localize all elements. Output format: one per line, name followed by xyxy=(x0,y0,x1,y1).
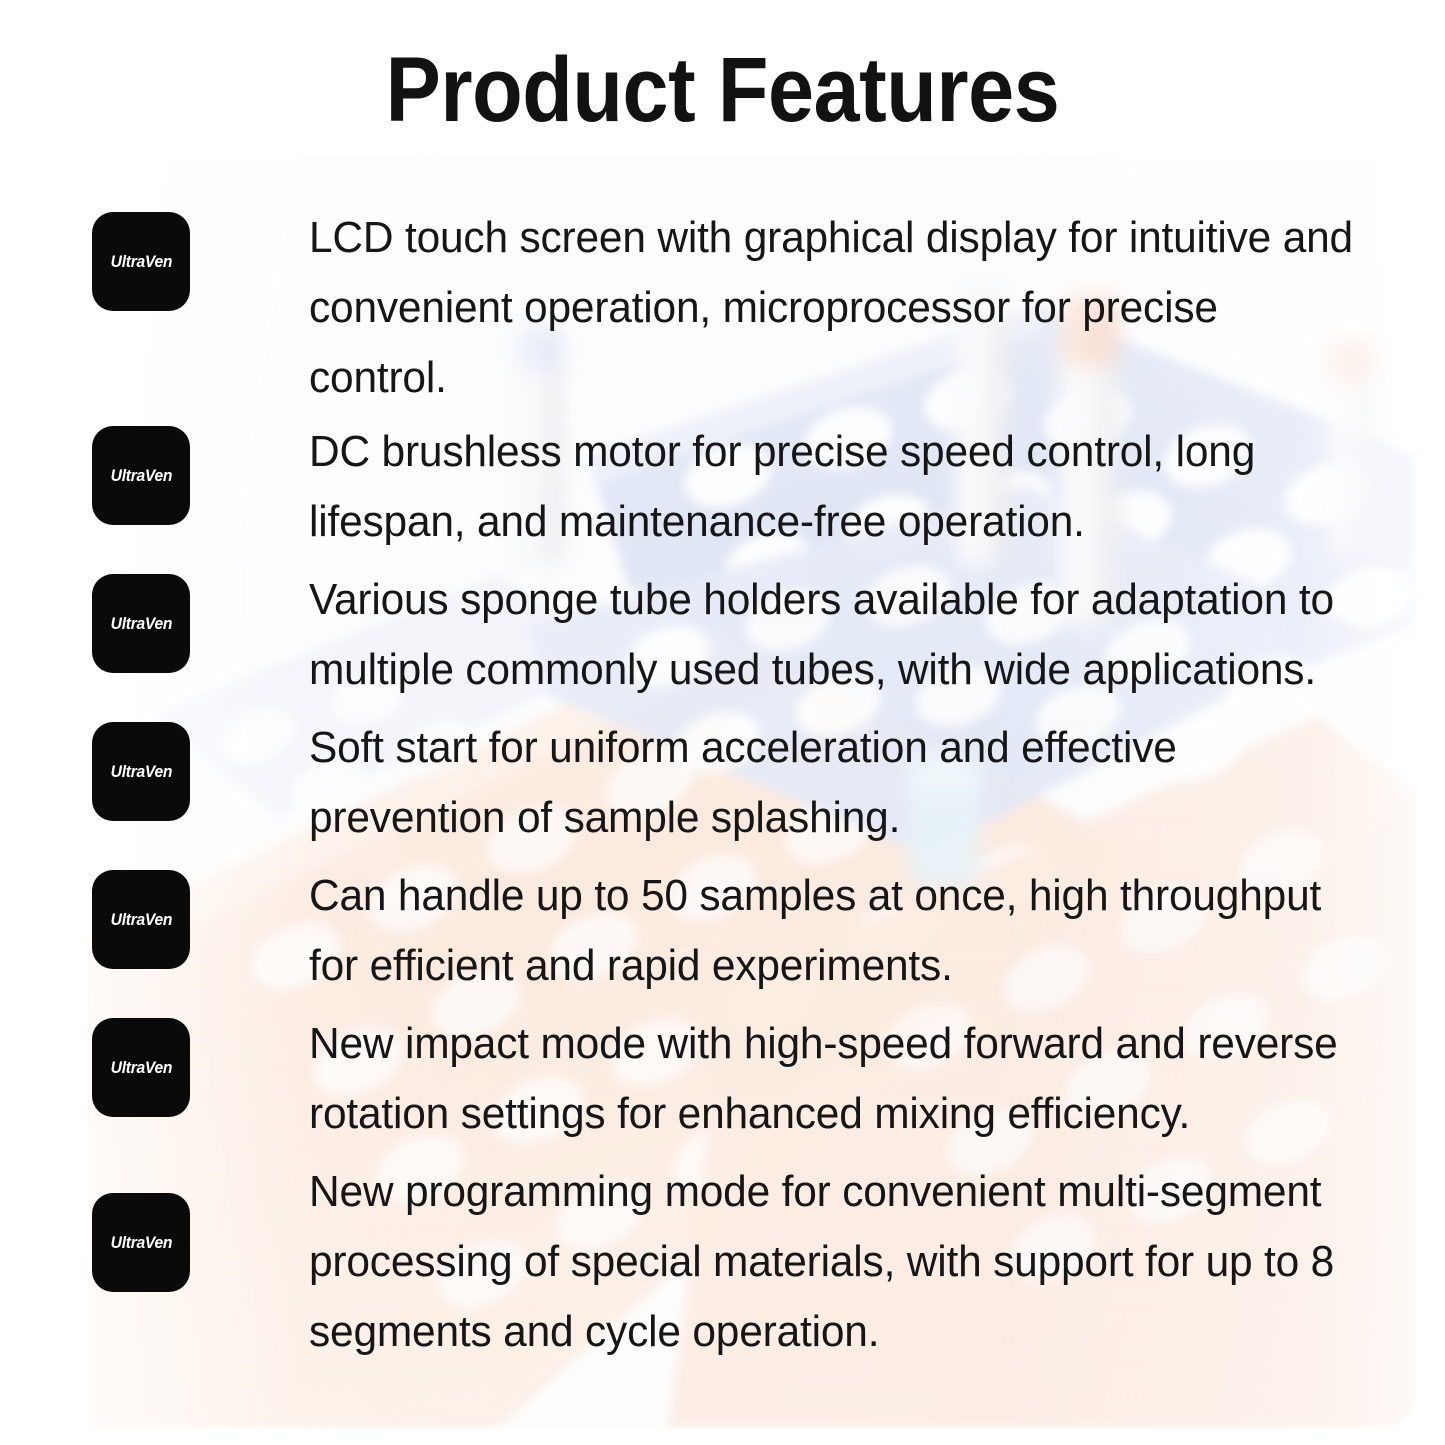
feature-text: New impact mode with high-speed forward … xyxy=(309,1009,1357,1149)
product-features-page: Product Features xyxy=(0,0,1445,1445)
ultraven-logo-badge-icon: UltraVen xyxy=(92,1193,190,1292)
feature-text: Soft start for uniform acceleration and … xyxy=(309,713,1357,853)
badge-brand-label: UltraVen xyxy=(110,762,172,782)
feature-text: LCD touch screen with graphical display … xyxy=(309,203,1357,413)
ultraven-logo-badge-icon: UltraVen xyxy=(92,574,190,673)
badge-brand-label: UltraVen xyxy=(110,466,172,486)
badge-brand-label: UltraVen xyxy=(110,614,172,634)
badge-brand-label: UltraVen xyxy=(110,1233,172,1253)
ultraven-logo-badge-icon: UltraVen xyxy=(92,722,190,821)
ultraven-logo-badge-icon: UltraVen xyxy=(92,212,190,311)
ultraven-logo-badge-icon: UltraVen xyxy=(92,1018,190,1117)
features-card: UltraVen LCD touch screen with graphical… xyxy=(28,156,1416,1428)
badge-brand-label: UltraVen xyxy=(110,252,172,272)
badge-brand-label: UltraVen xyxy=(110,910,172,930)
badge-brand-label: UltraVen xyxy=(110,1058,172,1078)
features-list: UltraVen LCD touch screen with graphical… xyxy=(28,156,1416,1428)
feature-text: Various sponge tube holders available fo… xyxy=(309,565,1357,705)
feature-text: Can handle up to 50 samples at once, hig… xyxy=(309,861,1357,1001)
feature-text: New programming mode for convenient mult… xyxy=(309,1157,1357,1367)
page-title: Product Features xyxy=(72,36,1373,144)
ultraven-logo-badge-icon: UltraVen xyxy=(92,870,190,969)
feature-text: DC brushless motor for precise speed con… xyxy=(309,417,1357,557)
ultraven-logo-badge-icon: UltraVen xyxy=(92,426,190,525)
